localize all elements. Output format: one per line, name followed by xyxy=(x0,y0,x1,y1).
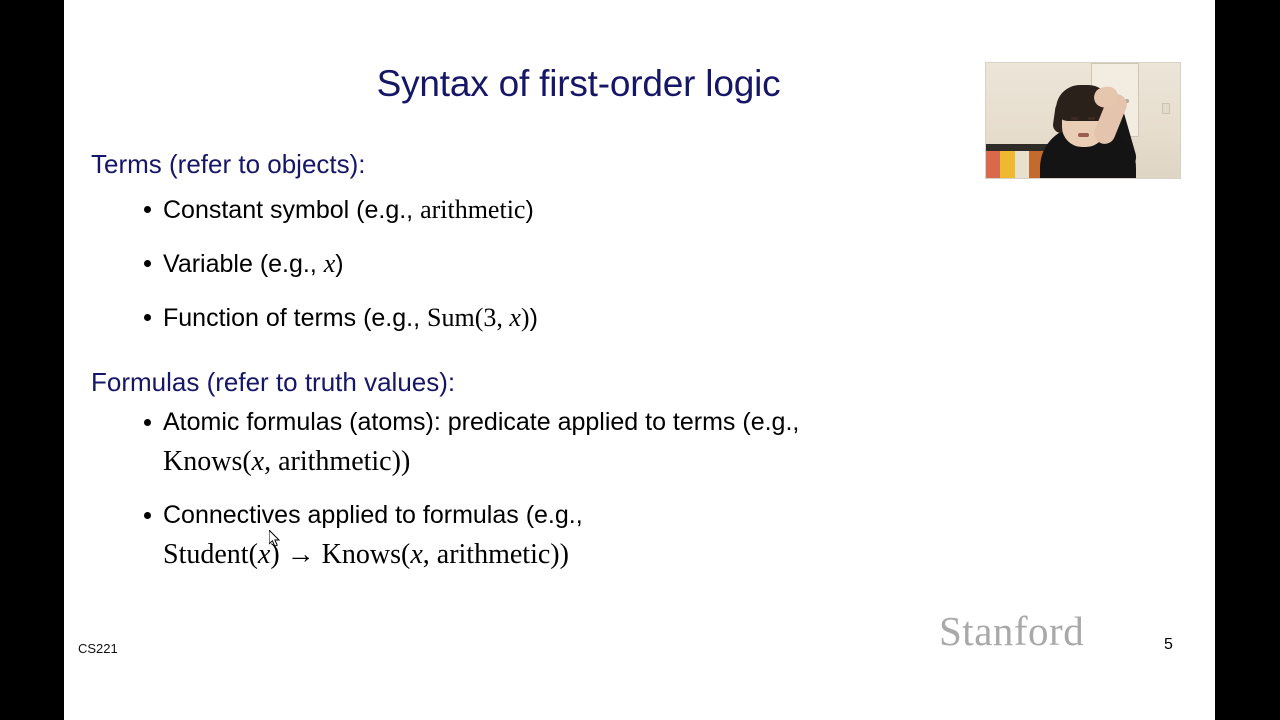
bullet-list-terms: Constant symbol (e.g., arithmetic) Varia… xyxy=(91,186,1181,342)
bullet-dot-icon xyxy=(144,512,151,519)
math-paren-open: ( xyxy=(249,539,258,570)
math-paren-close: ) xyxy=(270,539,279,570)
list-item: Variable (e.g., x) xyxy=(91,240,1181,288)
math-sum-arg-number: 3 xyxy=(483,303,496,332)
math-paren-close: ) xyxy=(550,539,559,570)
cushion xyxy=(1015,151,1029,178)
math-variable-x: x xyxy=(252,446,264,477)
bullet-math-line2: Knows(x, arithmetic)) xyxy=(163,441,1181,483)
bullet-text-line1: Atomic formulas (atoms): predicate appli… xyxy=(163,408,799,436)
math-knows-name: Knows xyxy=(163,446,242,477)
math-paren-open: ( xyxy=(401,539,410,570)
cushion xyxy=(1000,151,1014,178)
math-variable-x: x xyxy=(324,249,336,278)
math-paren-open: ( xyxy=(242,446,251,477)
presentation-viewer: Syntax of first-order logic Terms (refer… xyxy=(0,0,1280,720)
math-paren-close: ) xyxy=(392,446,401,477)
bullet-dot-icon xyxy=(144,314,151,321)
stanford-wordmark: Stanford xyxy=(939,607,1084,655)
math-implies-arrow-icon: → xyxy=(287,539,315,570)
bullet-list-formulas: Atomic formulas (atoms): predicate appli… xyxy=(91,404,1181,576)
page-title-text: Syntax of first-order logic xyxy=(377,63,781,104)
list-item: Connectives applied to formulas (e.g., S… xyxy=(91,497,1181,576)
list-item: Atomic formulas (atoms): predicate appli… xyxy=(91,404,1181,483)
course-code-label: CS221 xyxy=(78,641,118,656)
math-paren-close-outer: ) xyxy=(401,446,410,477)
list-item: Constant symbol (e.g., arithmetic) xyxy=(91,186,1181,234)
math-variable-x: x xyxy=(258,539,270,570)
bullet-text-suffix: ) xyxy=(530,304,538,332)
letterbox-bar-left xyxy=(0,0,64,720)
bullet-text-prefix: Constant symbol (e.g., xyxy=(163,196,420,224)
webcam-person-eye-right xyxy=(1088,117,1095,120)
math-paren-close: ) xyxy=(521,303,530,332)
slide-body: Terms (refer to objects): Constant symbo… xyxy=(91,148,1181,590)
webcam-light-switch xyxy=(1162,103,1170,114)
webcam-person-eye-left xyxy=(1071,117,1078,120)
math-student-name: Student xyxy=(163,539,249,570)
bullet-text-prefix: Function of terms (e.g., xyxy=(163,304,427,332)
bullet-dot-icon xyxy=(144,206,151,213)
bullet-dot-icon xyxy=(144,419,151,426)
letterbox-bar-right xyxy=(1215,0,1280,720)
math-arithmetic: arithmetic xyxy=(420,195,525,224)
math-variable-x: x xyxy=(509,303,521,332)
webcam-person-mouth xyxy=(1078,133,1089,137)
math-comma: , xyxy=(423,539,437,570)
section-heading-formulas: Formulas (refer to truth values): xyxy=(91,366,1181,398)
presenter-webcam-thumbnail[interactable] xyxy=(985,62,1181,179)
math-sum-name: Sum xyxy=(427,303,475,332)
cushion xyxy=(986,151,1000,178)
math-arithmetic: arithmetic xyxy=(278,446,392,477)
bullet-text-line1: Connectives applied to formulas (e.g., xyxy=(163,501,583,529)
math-variable-x: x xyxy=(410,539,422,570)
bullet-text-suffix: ) xyxy=(525,196,533,224)
math-comma: , xyxy=(264,446,278,477)
math-comma: , xyxy=(496,303,509,332)
bullet-text-prefix: Variable (e.g., xyxy=(163,250,324,278)
bullet-text-suffix: ) xyxy=(335,250,343,278)
math-paren-close-outer: ) xyxy=(560,539,569,570)
math-knows-name: Knows xyxy=(322,539,401,570)
bullet-dot-icon xyxy=(144,260,151,267)
slide-page-number: 5 xyxy=(1164,636,1173,654)
bullet-math-line2: Student(x) → Knows(x, arithmetic)) xyxy=(163,534,1181,576)
math-arithmetic: arithmetic xyxy=(437,539,551,570)
list-item: Function of terms (e.g., Sum(3, x)) xyxy=(91,294,1181,342)
